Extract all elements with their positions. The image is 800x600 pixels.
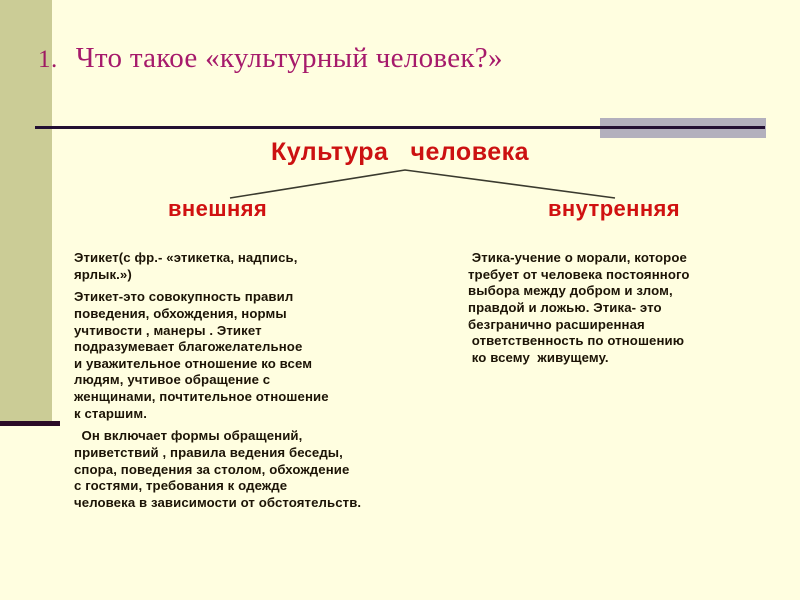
text-line: ярлык.»): [74, 267, 474, 284]
text-line: человека в зависимости от обстоятельств.: [74, 495, 474, 512]
text-line: Этикет(с фр.- «этикетка, надпись,: [74, 250, 474, 267]
paragraph: Этикет-это совокупность правил поведения…: [74, 289, 474, 422]
text-line: спора, поведения за столом, обхождение: [74, 462, 474, 479]
paragraph: Этикет(с фр.- «этикетка, надпись, ярлык.…: [74, 250, 474, 283]
text-line: женщинами, почтительное отношение: [74, 389, 474, 406]
left-accent-band-rule: [0, 421, 60, 426]
title-label: Что такое «культурный человек?»: [76, 42, 503, 75]
left-text-column: Этикет(с фр.- «этикетка, надпись, ярлык.…: [74, 250, 474, 511]
text-line: людям, учтивое обращение с: [74, 372, 474, 389]
paragraph: Он включает формы обращений, приветствий…: [74, 428, 474, 511]
text-line: выбора между добром и злом,: [468, 283, 788, 300]
title-number: 1.: [38, 46, 58, 74]
right-text-column: Этика-учение о морали, которое требует о…: [468, 250, 788, 366]
text-line: Этика-учение о морали, которое: [468, 250, 788, 267]
diagram-root-word-2: человека: [410, 138, 529, 167]
text-line: безгранично расширенная: [468, 317, 788, 334]
text-line: требует от человека постоянного: [468, 267, 788, 284]
text-line: к старшим.: [74, 406, 474, 423]
slide-canvas: 1. Что такое «культурный человек?» Культ…: [0, 0, 800, 600]
title-divider-rule: [35, 126, 765, 129]
diagram-root-label: Культурачеловека: [0, 138, 800, 167]
text-line: правдой и ложью. Этика- это: [468, 300, 788, 317]
text-line: ответственность по отношению: [468, 333, 788, 350]
diagram-branch-left-label: внешняя: [168, 196, 267, 222]
text-line: приветствий , правила ведения беседы,: [74, 445, 474, 462]
paragraph: Этика-учение о морали, которое требует о…: [468, 250, 788, 366]
diagram-branch-right-label: внутренняя: [548, 196, 680, 222]
text-line: Этикет-это совокупность правил: [74, 289, 474, 306]
text-line: учтивости , манеры . Этикет: [74, 323, 474, 340]
diagram-root-word-1: Культура: [271, 138, 389, 166]
text-line: с гостями, требования к одежде: [74, 478, 474, 495]
text-line: Он включает формы обращений,: [74, 428, 474, 445]
page-title: 1. Что такое «культурный человек?»: [38, 42, 758, 75]
text-line: ко всему живущему.: [468, 350, 788, 367]
text-line: и уважительное отношение ко всем: [74, 356, 474, 373]
text-line: поведения, обхождения, нормы: [74, 306, 474, 323]
text-line: подразумевает благожелательное: [74, 339, 474, 356]
